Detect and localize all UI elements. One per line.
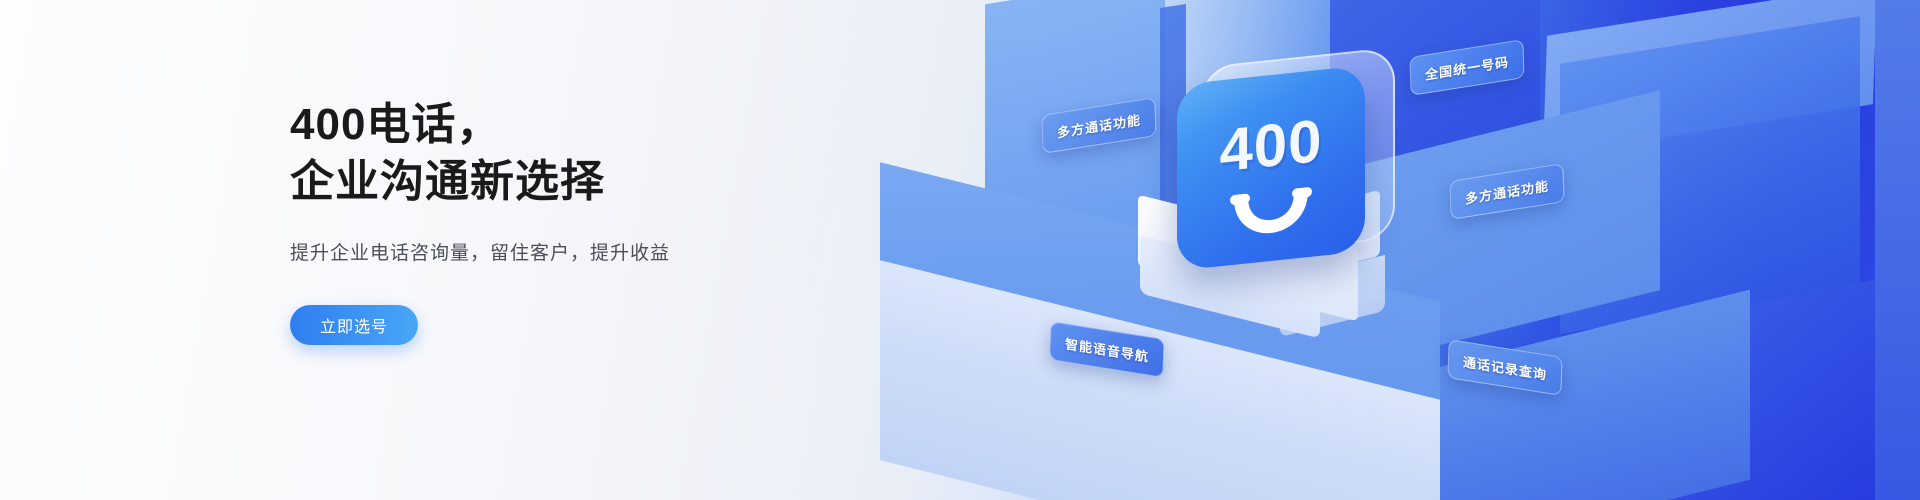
headline-line-2: 企业沟通新选择 [290, 153, 810, 210]
hero-banner: 400 多方通话功能 全国统一号码 多方通话功能 智能语音导航 通话记录查询 4… [0, 0, 1920, 500]
background-gradient [0, 0, 1920, 500]
feature-tag-label: 多方通话功能 [1465, 175, 1550, 207]
feature-tag-label: 通话记录查询 [1463, 351, 1548, 383]
select-number-button[interactable]: 立即选号 [290, 305, 418, 345]
feature-tag-label: 全国统一号码 [1425, 51, 1510, 83]
headline-line-1: 400电话， [290, 100, 501, 149]
page-title: 400电话， 企业沟通新选择 [290, 96, 810, 210]
banner-subtitle: 提升企业电话咨询量，留住客户，提升收益 [290, 238, 810, 265]
feature-tag-label: 智能语音导航 [1065, 333, 1150, 365]
banner-content: 400电话， 企业沟通新选择 提升企业电话咨询量，留住客户，提升收益 立即选号 [290, 96, 810, 345]
feature-tag-label: 多方通话功能 [1057, 109, 1142, 141]
